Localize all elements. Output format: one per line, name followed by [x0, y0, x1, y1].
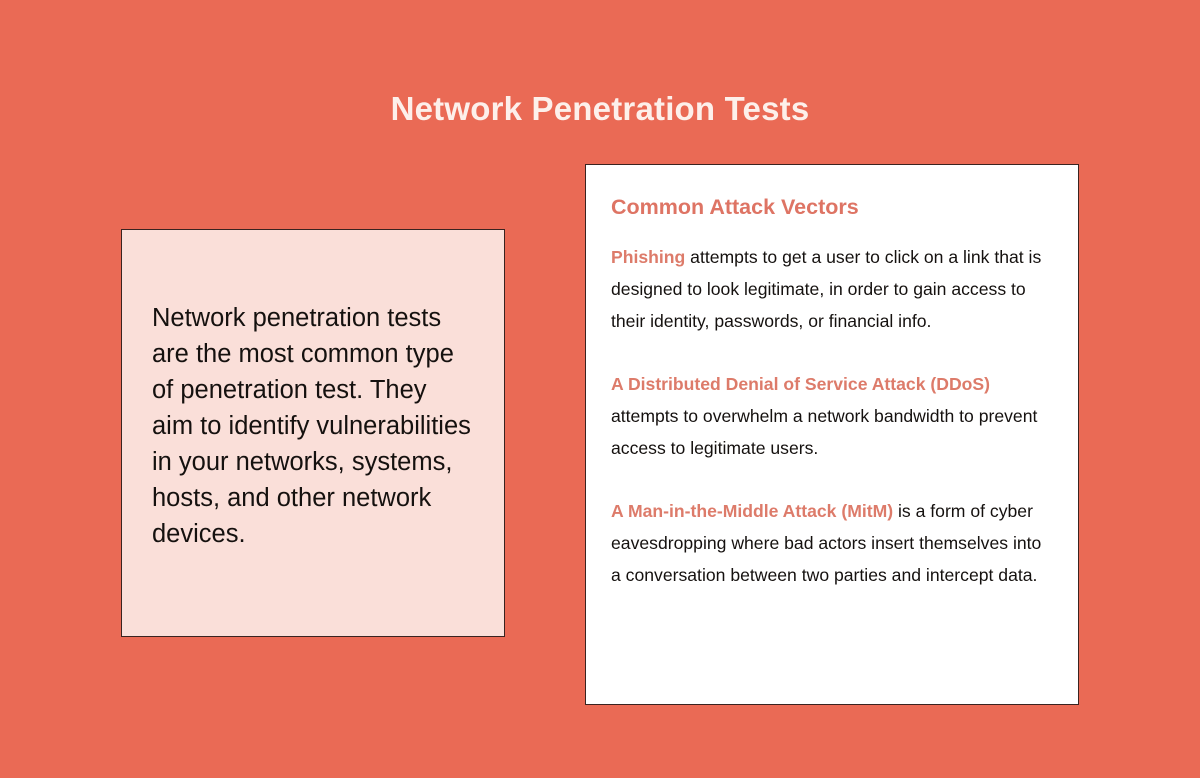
slide-root: Network Penetration Tests Network penetr… — [0, 0, 1200, 778]
attack-vectors-card: Common Attack Vectors Phishing attempts … — [585, 164, 1079, 705]
attack-vectors-heading: Common Attack Vectors — [611, 193, 1052, 221]
attack-vector-description: attempts to overwhelm a network bandwidt… — [611, 406, 1037, 458]
page-title: Network Penetration Tests — [0, 88, 1200, 130]
summary-card-text: Network penetration tests are the most c… — [152, 300, 472, 552]
summary-card: Network penetration tests are the most c… — [121, 229, 505, 637]
attack-vector-term: Phishing — [611, 247, 685, 267]
attack-vector-item: A Man-in-the-Middle Attack (MitM) is a f… — [611, 495, 1052, 591]
attack-vector-term: A Man-in-the-Middle Attack (MitM) — [611, 501, 893, 521]
attack-vector-item: Phishing attempts to get a user to click… — [611, 241, 1052, 337]
attack-vector-item: A Distributed Denial of Service Attack (… — [611, 368, 1052, 464]
attack-vector-term: A Distributed Denial of Service Attack (… — [611, 374, 990, 394]
